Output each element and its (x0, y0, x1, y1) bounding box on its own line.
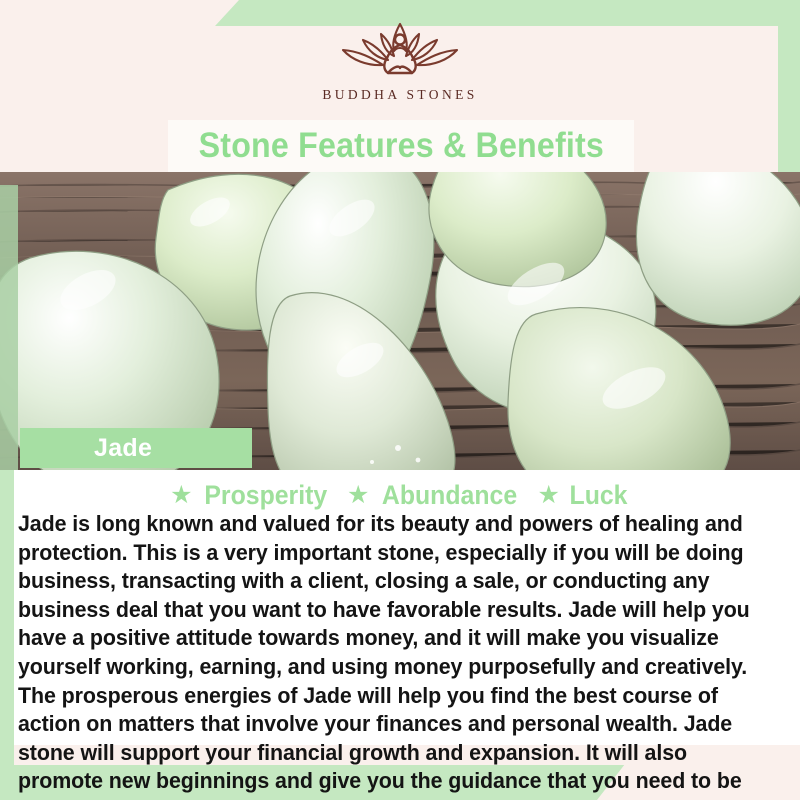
benefit-label: Luck (569, 480, 627, 511)
stone-photo-image (0, 172, 800, 470)
benefit-item-prosperity: ★ Prosperity (170, 480, 333, 511)
star-icon: ★ (537, 483, 559, 508)
decor-left-green-band (0, 470, 14, 780)
stone-name-label: Jade (20, 428, 252, 468)
benefit-item-abundance: ★ Abundance (347, 480, 523, 511)
stone-name-text: Jade (94, 434, 152, 463)
page-title-banner: Stone Features & Benefits (168, 120, 634, 172)
benefits-row: ★ Prosperity ★ Abundance ★ Luck (0, 480, 800, 511)
brand-logo: BUDDHA STONES (0, 18, 800, 103)
brand-header: BUDDHA STONES (0, 0, 800, 118)
decor-photo-left-overlay (0, 185, 18, 470)
page-title: Stone Features & Benefits (198, 126, 603, 166)
benefit-label: Abundance (382, 480, 517, 511)
brand-name: BUDDHA STONES (322, 87, 477, 103)
benefit-label: Prosperity (205, 480, 328, 511)
stone-description: Jade is long known and valued for its be… (18, 510, 757, 800)
lotus-meditation-figure-icon (325, 18, 475, 80)
stone-photo (0, 172, 800, 470)
star-icon: ★ (170, 483, 192, 508)
benefit-item-luck: ★ Luck (537, 480, 629, 511)
stone-info-card: BUDDHA STONES Stone Features & Benefits (0, 0, 800, 800)
star-icon: ★ (347, 483, 369, 508)
